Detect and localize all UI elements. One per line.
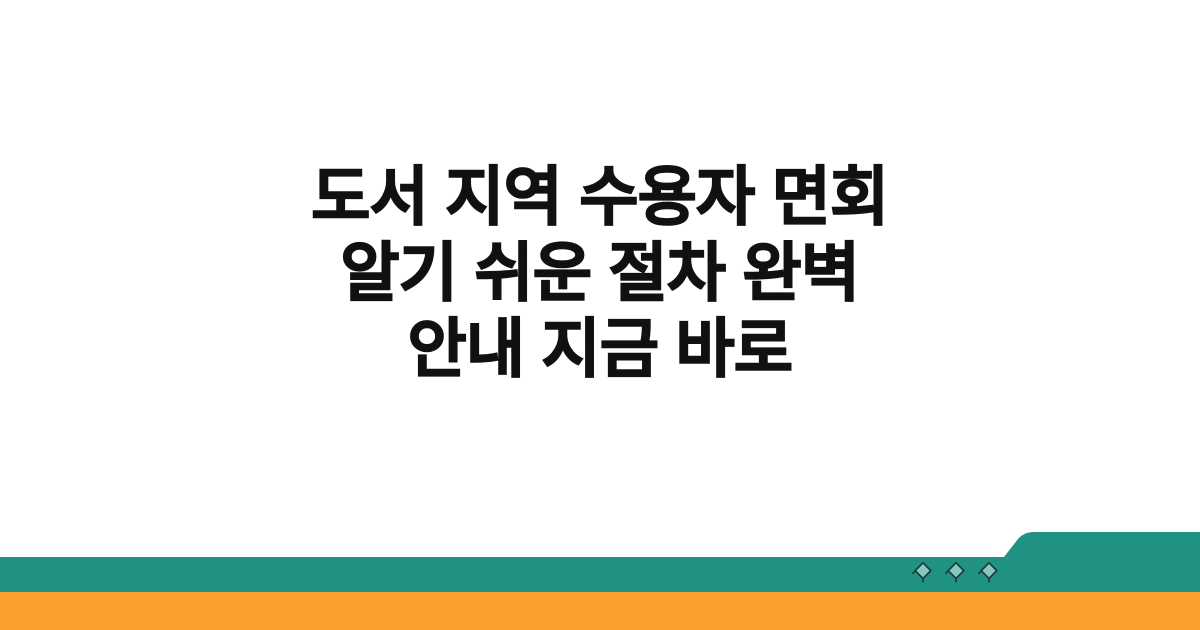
headline-container: 도서 지역 수용자 면회 알기 쉬운 절차 완벽 안내 지금 바로 <box>0 0 1200 545</box>
sparkle-diamond-icon <box>912 561 934 583</box>
headline-line-3: 안내 지금 바로 <box>100 311 1100 387</box>
sparkle-diamond-icon <box>945 561 967 583</box>
sparkle-diamond-icon <box>978 561 1000 583</box>
promo-card: 도서 지역 수용자 면회 알기 쉬운 절차 완벽 안내 지금 바로 <box>0 0 1200 630</box>
footer-decoration <box>0 520 1200 630</box>
headline-line-2: 알기 쉬운 절차 완벽 <box>100 235 1100 311</box>
teal-band <box>0 520 1200 592</box>
headline-line-1: 도서 지역 수용자 면회 <box>100 159 1100 235</box>
orange-band <box>0 592 1200 630</box>
page-title: 도서 지역 수용자 면회 알기 쉬운 절차 완벽 안내 지금 바로 <box>100 159 1100 387</box>
sparkle-group <box>912 559 1008 585</box>
